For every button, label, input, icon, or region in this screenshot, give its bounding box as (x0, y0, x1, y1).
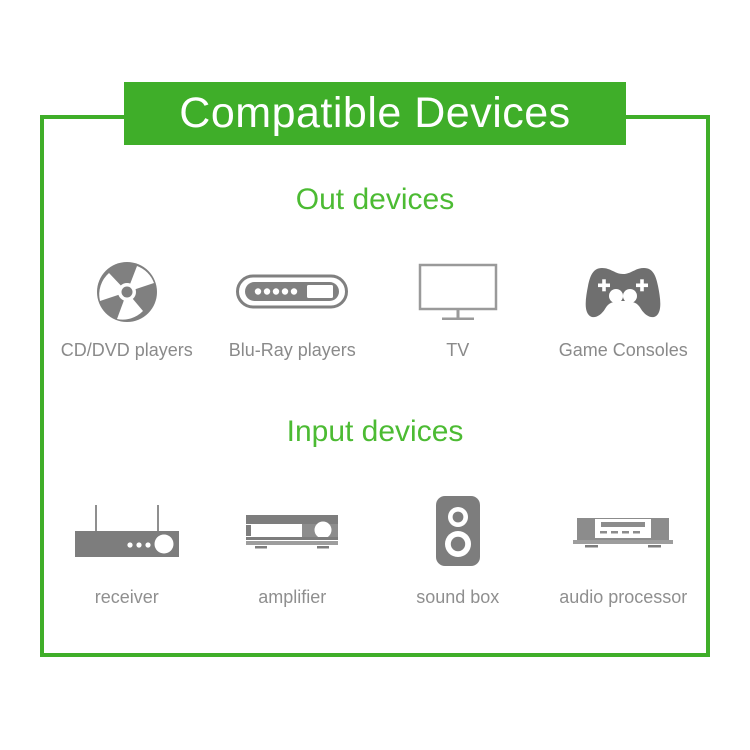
device-label: Blu-Ray players (229, 340, 356, 360)
device-label: sound box (416, 587, 499, 607)
device-label: CD/DVD players (61, 340, 193, 360)
input-devices-row: receiver amplifier (44, 485, 706, 607)
device-label: receiver (95, 587, 159, 607)
device-item-receiver: receiver (47, 495, 207, 607)
device-label: amplifier (258, 587, 326, 607)
page-title: Compatible Devices (179, 92, 570, 135)
device-item-tv: TV (378, 256, 538, 360)
compatible-devices-infographic: Compatible Devices Out devices CD/DVD pl… (0, 0, 750, 750)
device-item-bluray-players: Blu-Ray players (212, 256, 372, 360)
device-item-game-consoles: Game Consoles (543, 256, 703, 360)
device-item-sound-box: sound box (378, 495, 538, 607)
section-heading-input-devices: Input devices (0, 417, 750, 447)
bluray-player-icon (236, 256, 348, 328)
gamepad-icon (581, 256, 665, 328)
device-item-audio-processor: audio processor (543, 495, 703, 607)
receiver-icon (72, 495, 182, 567)
tv-icon (418, 256, 498, 328)
device-label: Game Consoles (559, 340, 688, 360)
out-devices-row: CD/DVD players Blu-Ray players (44, 248, 706, 360)
speaker-icon (434, 495, 482, 567)
device-label: TV (446, 340, 469, 360)
audio-processor-icon (571, 495, 675, 567)
section-heading-out-devices: Out devices (0, 185, 750, 215)
device-label: audio processor (559, 587, 687, 607)
device-item-amplifier: amplifier (212, 495, 372, 607)
cd-disc-icon (96, 256, 158, 328)
amplifier-icon (242, 495, 342, 567)
title-banner: Compatible Devices (124, 82, 626, 145)
device-item-cd-dvd-players: CD/DVD players (47, 256, 207, 360)
